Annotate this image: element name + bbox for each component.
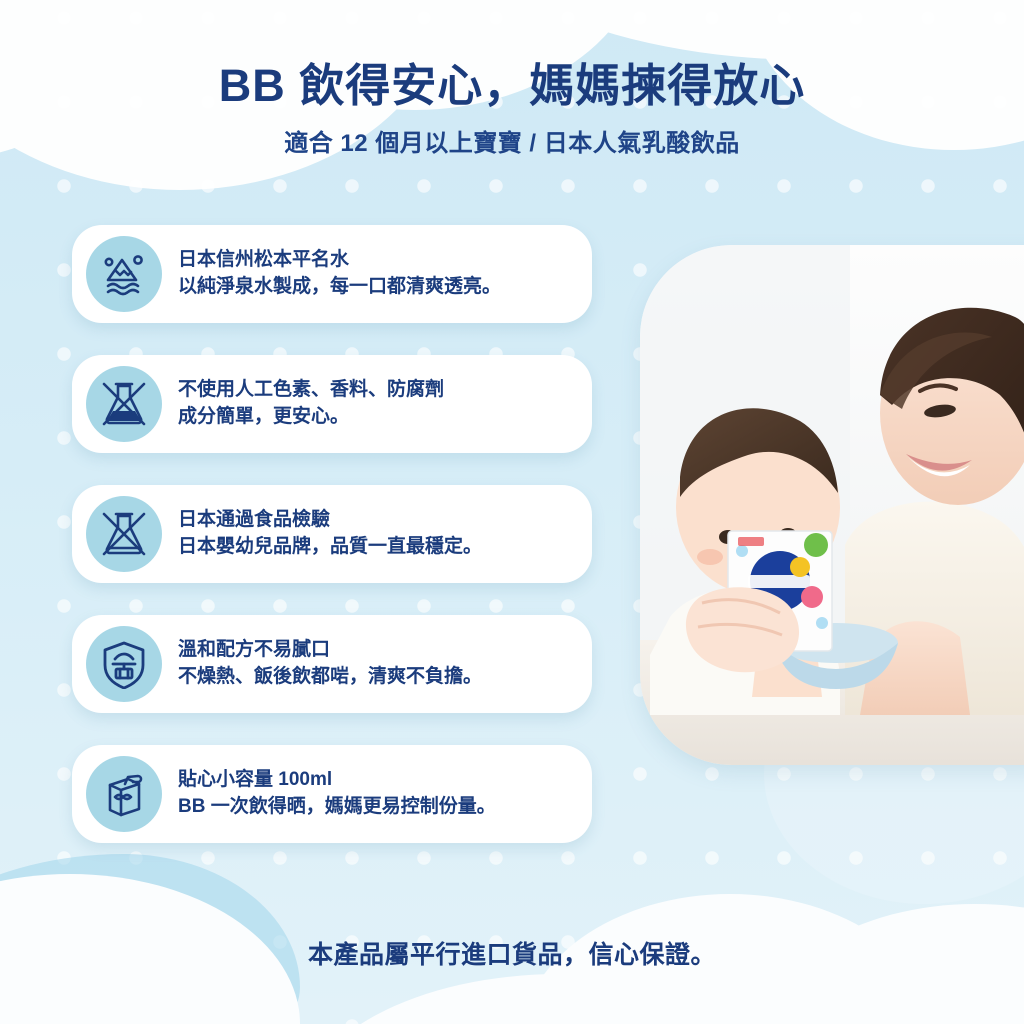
- feature-card: 日本通過食品檢驗 日本嬰幼兒品牌，品質一直最穩定。: [72, 485, 592, 583]
- feature-title: 貼心小容量 100ml: [178, 767, 496, 794]
- feature-title: 日本通過食品檢驗: [178, 507, 482, 534]
- feature-card: 溫和配方不易膩口 不燥熱、飯後飲都啱，清爽不負擔。: [72, 615, 592, 713]
- feature-description: 成分簡單，更安心。: [178, 404, 444, 431]
- hero-photo: [640, 245, 1024, 765]
- no-flask-icon: [86, 496, 162, 572]
- footer-note: 本產品屬平行進口貨品，信心保證。: [0, 935, 1024, 971]
- no-flask-icon: [86, 366, 162, 442]
- feature-card: 貼心小容量 100ml BB 一次飲得晒，媽媽更易控制份量。: [72, 745, 592, 843]
- page-subtitle: 適合 12 個月以上寶寶 / 日本人氣乳酸飲品: [0, 128, 1024, 159]
- feature-card: 不使用人工色素、香料、防腐劑 成分簡單，更安心。: [72, 355, 592, 453]
- promo-banner: BB 飲得安心，媽媽揀得放心 適合 12 個月以上寶寶 / 日本人氣乳酸飲品: [0, 0, 1024, 1024]
- feature-title: 日本信州松本平名水: [178, 247, 501, 274]
- mountain-water-icon: [86, 236, 162, 312]
- feature-card: 日本信州松本平名水 以純淨泉水製成，每一口都清爽透亮。: [72, 225, 592, 323]
- feature-card-list: 日本信州松本平名水 以純淨泉水製成，每一口都清爽透亮。 不使用人工色素、香料、防…: [72, 225, 592, 843]
- feature-description: BB 一次飲得晒，媽媽更易控制份量。: [178, 794, 496, 821]
- mother-baby-photo-illustration: [640, 245, 1024, 765]
- feature-description: 日本嬰幼兒品牌，品質一直最穩定。: [178, 534, 482, 561]
- page-title: BB 飲得安心，媽媽揀得放心: [0, 60, 1024, 112]
- feature-description: 不燥熱、飯後飲都啱，清爽不負擔。: [178, 664, 482, 691]
- juice-box-icon: [86, 756, 162, 832]
- feature-title: 不使用人工色素、香料、防腐劑: [178, 377, 444, 404]
- shield-benefit-icon: [86, 626, 162, 702]
- feature-description: 以純淨泉水製成，每一口都清爽透亮。: [178, 274, 501, 301]
- feature-title: 溫和配方不易膩口: [178, 637, 482, 664]
